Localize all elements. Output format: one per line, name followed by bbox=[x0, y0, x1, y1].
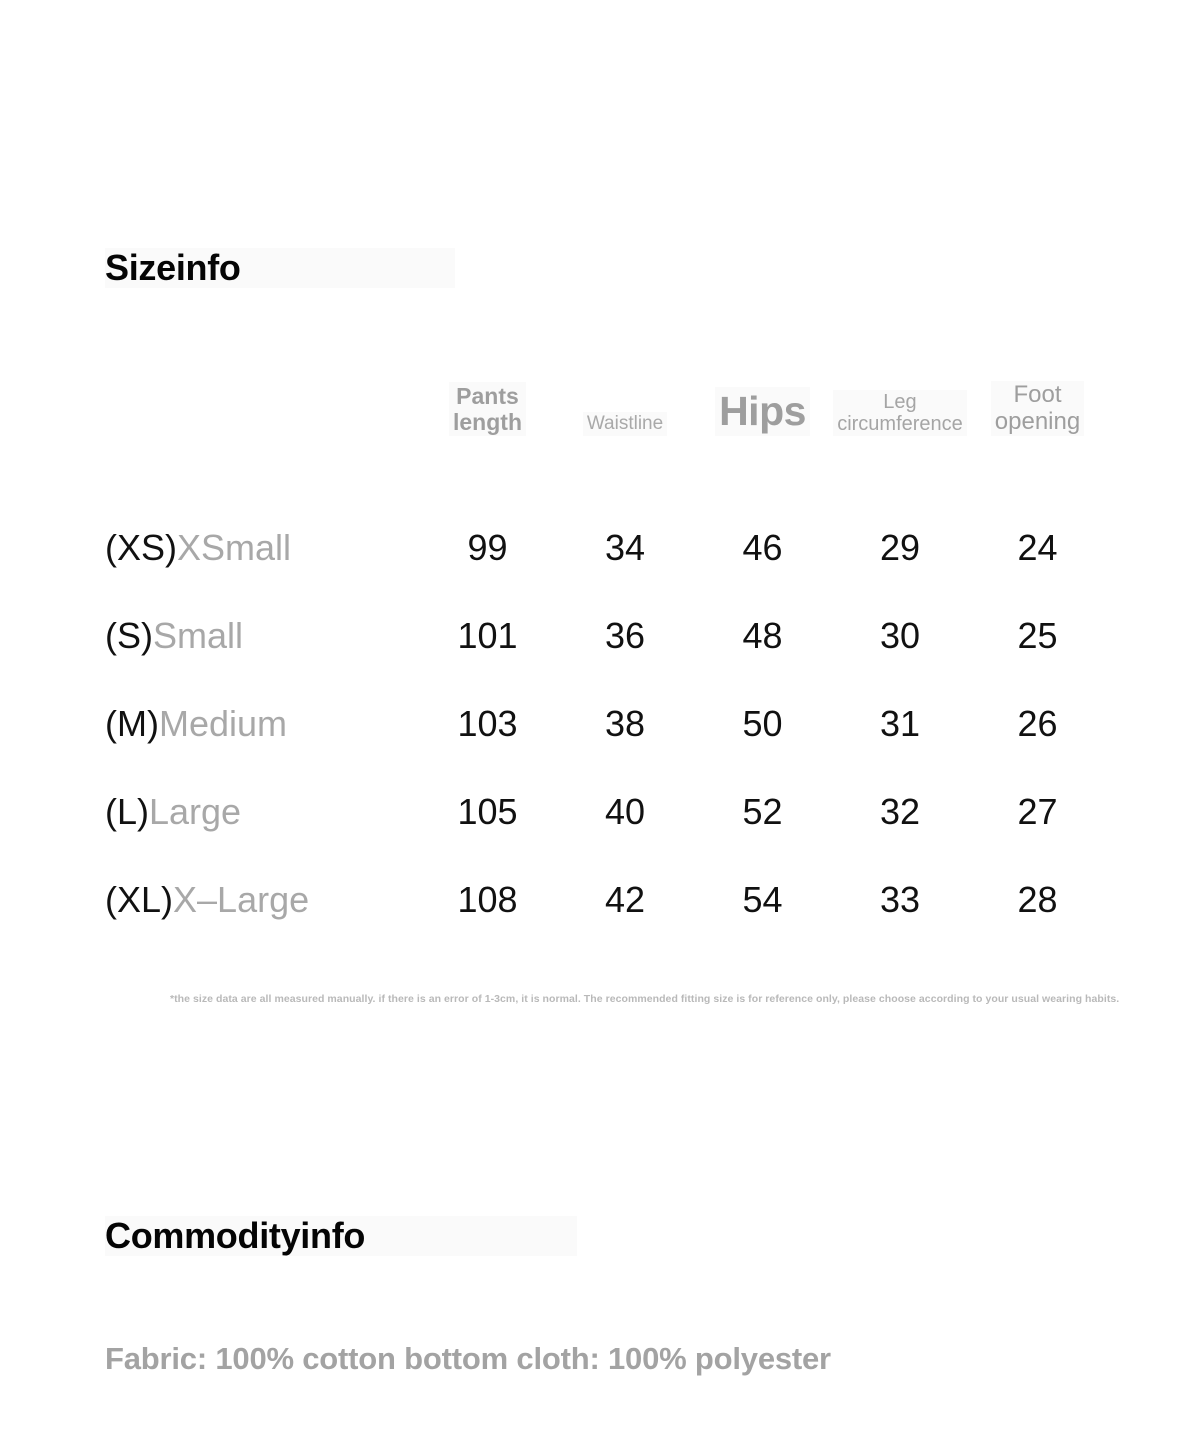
value-foot-opening: 26 bbox=[970, 680, 1105, 768]
value-waistline: 42 bbox=[555, 856, 695, 944]
size-label-cell: (S)Small bbox=[105, 592, 420, 680]
value-foot-opening: 27 bbox=[970, 768, 1105, 856]
fabric-composition-text: Fabric: 100% cotton bottom cloth: 100% p… bbox=[105, 1340, 831, 1377]
column-header-waistline: Waistline bbox=[555, 362, 695, 438]
leg-circumference-line1: Leg bbox=[883, 391, 916, 413]
size-label-cell: (XS)XSmall bbox=[105, 504, 420, 592]
size-name: XSmall bbox=[177, 527, 291, 568]
size-code: (L) bbox=[105, 791, 149, 832]
size-code: (M) bbox=[105, 703, 159, 744]
waistline-label: Waistline bbox=[583, 412, 667, 436]
size-code: (XS) bbox=[105, 527, 177, 568]
value-pants-length: 103 bbox=[420, 680, 555, 768]
size-label-cell: (L)Large bbox=[105, 768, 420, 856]
size-label-cell: (XL)X–Large bbox=[105, 856, 420, 944]
value-pants-length: 108 bbox=[420, 856, 555, 944]
foot-opening-line1: Foot bbox=[1013, 381, 1061, 408]
size-name: Large bbox=[149, 791, 241, 832]
spacer-cell bbox=[830, 438, 970, 504]
value-hips: 46 bbox=[695, 504, 830, 592]
value-hips: 48 bbox=[695, 592, 830, 680]
value-pants-length: 101 bbox=[420, 592, 555, 680]
column-header-leg-circumference: Leg circumference bbox=[830, 362, 970, 438]
column-header-hips: Hips bbox=[695, 362, 830, 438]
size-info-page: Sizeinfo Pants length Waistline bbox=[0, 0, 1200, 1451]
spacer-cell bbox=[970, 438, 1105, 504]
value-waistline: 38 bbox=[555, 680, 695, 768]
value-foot-opening: 24 bbox=[970, 504, 1105, 592]
value-foot-opening: 25 bbox=[970, 592, 1105, 680]
table-spacer-row bbox=[105, 438, 1105, 504]
size-name: Small bbox=[153, 615, 243, 656]
hips-label: Hips bbox=[715, 387, 810, 436]
size-measurement-disclaimer: *the size data are all measured manually… bbox=[170, 993, 1100, 1006]
table-row: (XL)X–Large 108 42 54 33 28 bbox=[105, 856, 1105, 944]
size-name: Medium bbox=[159, 703, 287, 744]
value-waistline: 40 bbox=[555, 768, 695, 856]
value-hips: 52 bbox=[695, 768, 830, 856]
page-title-sizeinfo: Sizeinfo bbox=[105, 250, 241, 286]
column-header-foot-opening: Foot opening bbox=[970, 362, 1105, 438]
spacer-cell bbox=[695, 438, 830, 504]
spacer-cell bbox=[105, 438, 420, 504]
value-hips: 50 bbox=[695, 680, 830, 768]
size-code: (S) bbox=[105, 615, 153, 656]
leg-circumference-line2: circumference bbox=[837, 413, 963, 435]
size-code: (XL) bbox=[105, 879, 173, 920]
pants-length-line2: length bbox=[453, 409, 522, 435]
page-title-commodityinfo: Commodityinfo bbox=[105, 1218, 365, 1254]
value-leg-circumference: 30 bbox=[830, 592, 970, 680]
table-row: (XS)XSmall 99 34 46 29 24 bbox=[105, 504, 1105, 592]
pants-length-line1: Pants bbox=[456, 383, 519, 409]
value-foot-opening: 28 bbox=[970, 856, 1105, 944]
table-header-row: Pants length Waistline Hips Leg circumfe… bbox=[105, 362, 1105, 438]
table-row: (S)Small 101 36 48 30 25 bbox=[105, 592, 1105, 680]
value-leg-circumference: 33 bbox=[830, 856, 970, 944]
value-waistline: 36 bbox=[555, 592, 695, 680]
spacer-cell bbox=[555, 438, 695, 504]
value-waistline: 34 bbox=[555, 504, 695, 592]
value-pants-length: 105 bbox=[420, 768, 555, 856]
table-row: (M)Medium 103 38 50 31 26 bbox=[105, 680, 1105, 768]
foot-opening-line2: opening bbox=[995, 408, 1080, 435]
value-pants-length: 99 bbox=[420, 504, 555, 592]
spacer-cell bbox=[420, 438, 555, 504]
size-chart-table: Pants length Waistline Hips Leg circumfe… bbox=[105, 362, 1105, 944]
column-header-pants-length: Pants length bbox=[420, 362, 555, 438]
value-leg-circumference: 31 bbox=[830, 680, 970, 768]
value-leg-circumference: 32 bbox=[830, 768, 970, 856]
value-leg-circumference: 29 bbox=[830, 504, 970, 592]
size-name: X–Large bbox=[173, 879, 309, 920]
value-hips: 54 bbox=[695, 856, 830, 944]
column-header-size bbox=[105, 362, 420, 438]
table-row: (L)Large 105 40 52 32 27 bbox=[105, 768, 1105, 856]
size-label-cell: (M)Medium bbox=[105, 680, 420, 768]
